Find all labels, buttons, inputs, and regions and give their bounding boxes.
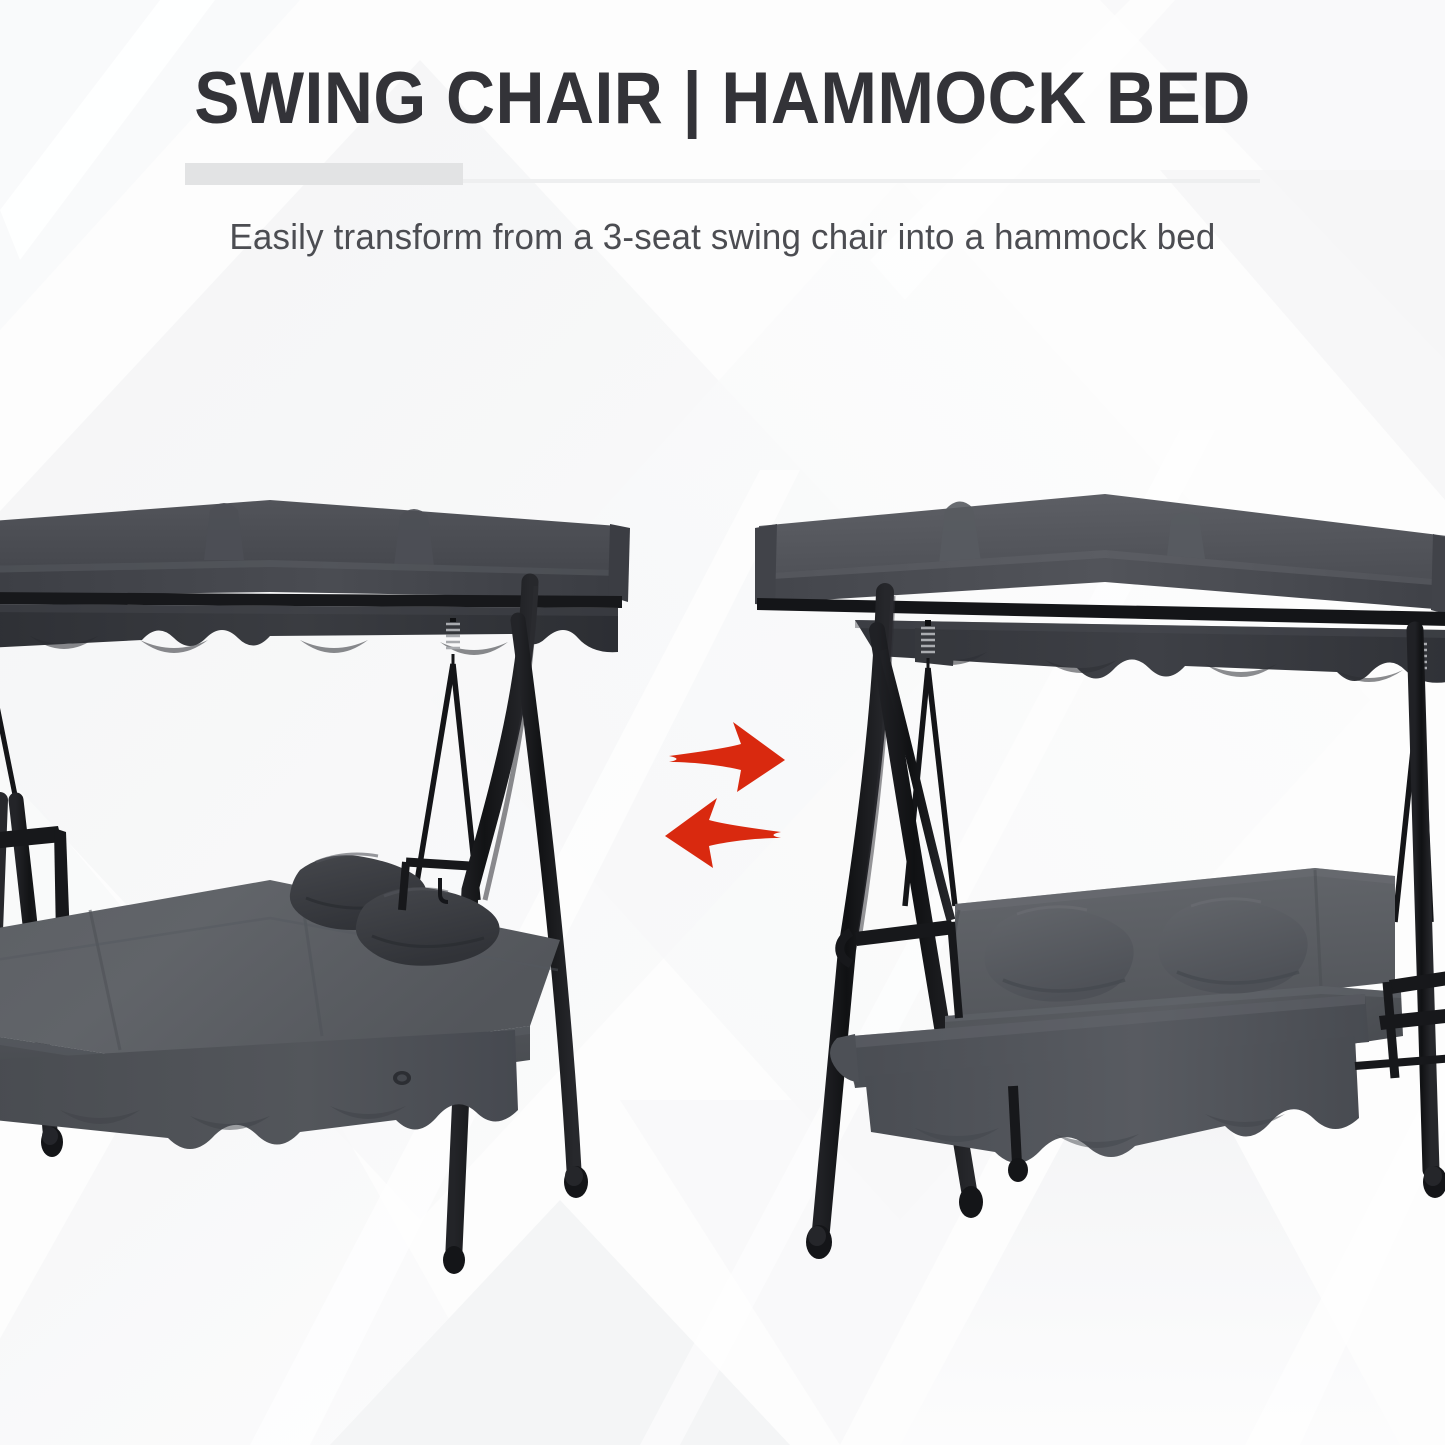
divider-thick-segment bbox=[185, 163, 463, 185]
hanger-right bbox=[414, 618, 478, 900]
infographic-page: SWING CHAIR | HAMMOCK BED Easily transfo… bbox=[0, 0, 1445, 1445]
arrow-left-icon bbox=[665, 798, 781, 868]
product-image-hammock-bed: Hammock bed configuration - backrest fol… bbox=[0, 470, 660, 1300]
transform-arrows bbox=[645, 712, 805, 882]
page-subtitle: Easily transform from a 3-seat swing cha… bbox=[22, 214, 1424, 260]
header: SWING CHAIR | HAMMOCK BED Easily transfo… bbox=[0, 0, 1445, 300]
divider-thin-line bbox=[463, 179, 1260, 183]
canopy-right bbox=[755, 494, 1445, 683]
page-title: SWING CHAIR | HAMMOCK BED bbox=[51, 58, 1395, 140]
product-image-swing-chair: 3-seat swing chair configuration - backr… bbox=[755, 470, 1445, 1300]
arrow-right-icon bbox=[669, 722, 785, 792]
title-divider bbox=[185, 163, 1260, 187]
